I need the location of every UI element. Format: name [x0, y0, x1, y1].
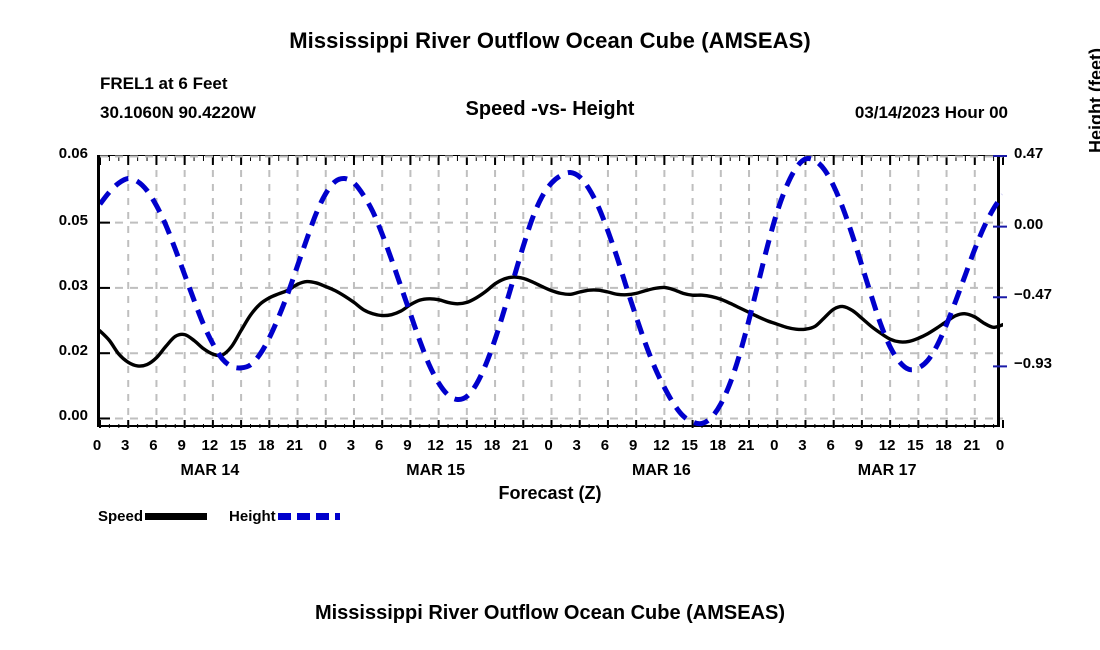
x-axis-tick-label: 6: [590, 437, 620, 454]
x-axis-tick-label: 15: [223, 437, 253, 454]
y-axis-left-tick-label: 0.05: [59, 212, 88, 229]
legend-item[interactable]: Speed: [98, 508, 207, 525]
legend-item-label: Height: [229, 508, 276, 525]
x-axis-tick-label: 0: [759, 437, 789, 454]
x-axis-tick-label: 6: [364, 437, 394, 454]
y-axis-right-tick-label: −0.93: [1014, 355, 1052, 372]
x-axis-tick-label: 18: [703, 437, 733, 454]
x-axis-tick-label: 3: [562, 437, 592, 454]
chart-legend: SpeedHeight: [98, 508, 362, 525]
legend-item-swatch-dashed: [278, 513, 340, 520]
forecast-date: 03/14/2023 Hour 00: [855, 103, 1008, 123]
x-axis-tick-label: 21: [280, 437, 310, 454]
x-axis-tick-label: 12: [872, 437, 902, 454]
x-axis-tick-label: 15: [449, 437, 479, 454]
x-axis-tick-label: 21: [731, 437, 761, 454]
y-axis-right-tick-label: 0.47: [1014, 145, 1043, 162]
x-axis-tick-label: 18: [251, 437, 281, 454]
x-axis-tick-label: 12: [646, 437, 676, 454]
chart-page: Mississippi River Outflow Ocean Cube (AM…: [0, 0, 1100, 650]
x-axis-tick-label: 0: [985, 437, 1015, 454]
x-axis-day-label: MAR 17: [827, 462, 947, 480]
legend-item-swatch-solid: [145, 513, 207, 520]
y-axis-right-tick-label: 0.00: [1014, 216, 1043, 233]
page-title: Mississippi River Outflow Ocean Cube (AM…: [0, 28, 1100, 54]
x-axis-tick-label: 18: [929, 437, 959, 454]
x-axis-day-label: MAR 16: [601, 462, 721, 480]
plot-area: [97, 155, 1000, 427]
x-axis-tick-label: 3: [110, 437, 140, 454]
footer-title: Mississippi River Outflow Ocean Cube (AM…: [0, 602, 1100, 625]
y-axis-left-tick-label: 0.02: [59, 342, 88, 359]
station-label: FREL1 at 6 Feet: [100, 74, 228, 94]
x-axis-title: Forecast (Z): [0, 483, 1100, 504]
x-axis-day-label: MAR 15: [376, 462, 496, 480]
x-axis-day-label: MAR 14: [150, 462, 270, 480]
x-axis-tick-label: 9: [167, 437, 197, 454]
x-axis-tick-label: 6: [816, 437, 846, 454]
x-axis-tick-label: 0: [82, 437, 112, 454]
x-axis-tick-label: 0: [308, 437, 338, 454]
y-axis-right-tick-label: −0.47: [1014, 286, 1052, 303]
y-axis-left-tick-label: 0.03: [59, 277, 88, 294]
legend-item-label: Speed: [98, 508, 143, 525]
x-axis-tick-label: 3: [787, 437, 817, 454]
x-axis-tick-label: 21: [505, 437, 535, 454]
x-axis-tick-label: 18: [477, 437, 507, 454]
x-axis-tick-label: 0: [534, 437, 564, 454]
plot-canvas: [100, 156, 1003, 428]
x-axis-tick-label: 15: [675, 437, 705, 454]
x-axis-tick-label: 12: [195, 437, 225, 454]
y-axis-right-title: Height (feet): [1086, 48, 1100, 153]
y-axis-left-tick-label: 0.06: [59, 145, 88, 162]
x-axis-tick-label: 9: [392, 437, 422, 454]
x-axis-tick-label: 12: [421, 437, 451, 454]
y-axis-left-tick-label: 0.00: [59, 407, 88, 424]
x-axis-tick-label: 21: [957, 437, 987, 454]
x-axis-tick-label: 9: [618, 437, 648, 454]
x-axis-tick-label: 6: [138, 437, 168, 454]
x-axis-tick-label: 9: [844, 437, 874, 454]
legend-item[interactable]: Height: [229, 508, 340, 525]
x-axis-tick-label: 3: [336, 437, 366, 454]
x-axis-tick-label: 15: [900, 437, 930, 454]
